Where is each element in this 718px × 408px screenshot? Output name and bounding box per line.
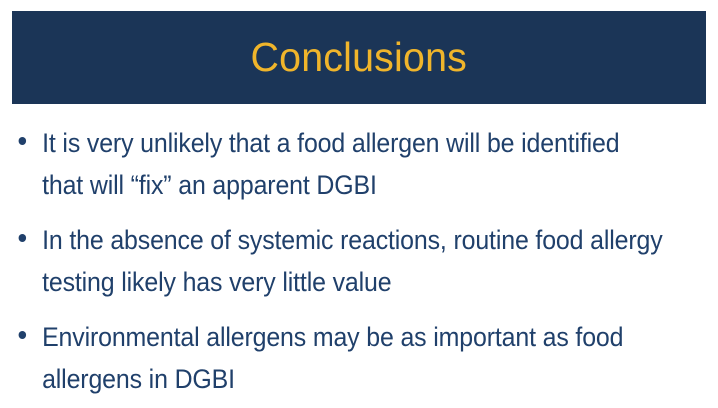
list-item: Environmental allergens may be as import… (12, 316, 664, 400)
bullet-dot-icon (19, 331, 27, 339)
bullet-list: It is very unlikely that a food allergen… (12, 122, 706, 400)
page-title: Conclusions (251, 37, 468, 78)
slide-body: It is very unlikely that a food allergen… (12, 122, 706, 402)
list-item-text: It is very unlikely that a food allergen… (42, 122, 664, 206)
list-item: It is very unlikely that a food allergen… (12, 122, 664, 206)
list-item-text: In the absence of systemic reactions, ro… (42, 219, 664, 303)
list-item: In the absence of systemic reactions, ro… (12, 219, 664, 303)
presentation-slide: Conclusions It is very unlikely that a f… (0, 0, 718, 408)
bullet-dot-icon (19, 137, 27, 145)
bullet-dot-icon (19, 234, 27, 242)
list-item-text: Environmental allergens may be as import… (42, 316, 664, 400)
slide-title-band: Conclusions (12, 11, 706, 104)
